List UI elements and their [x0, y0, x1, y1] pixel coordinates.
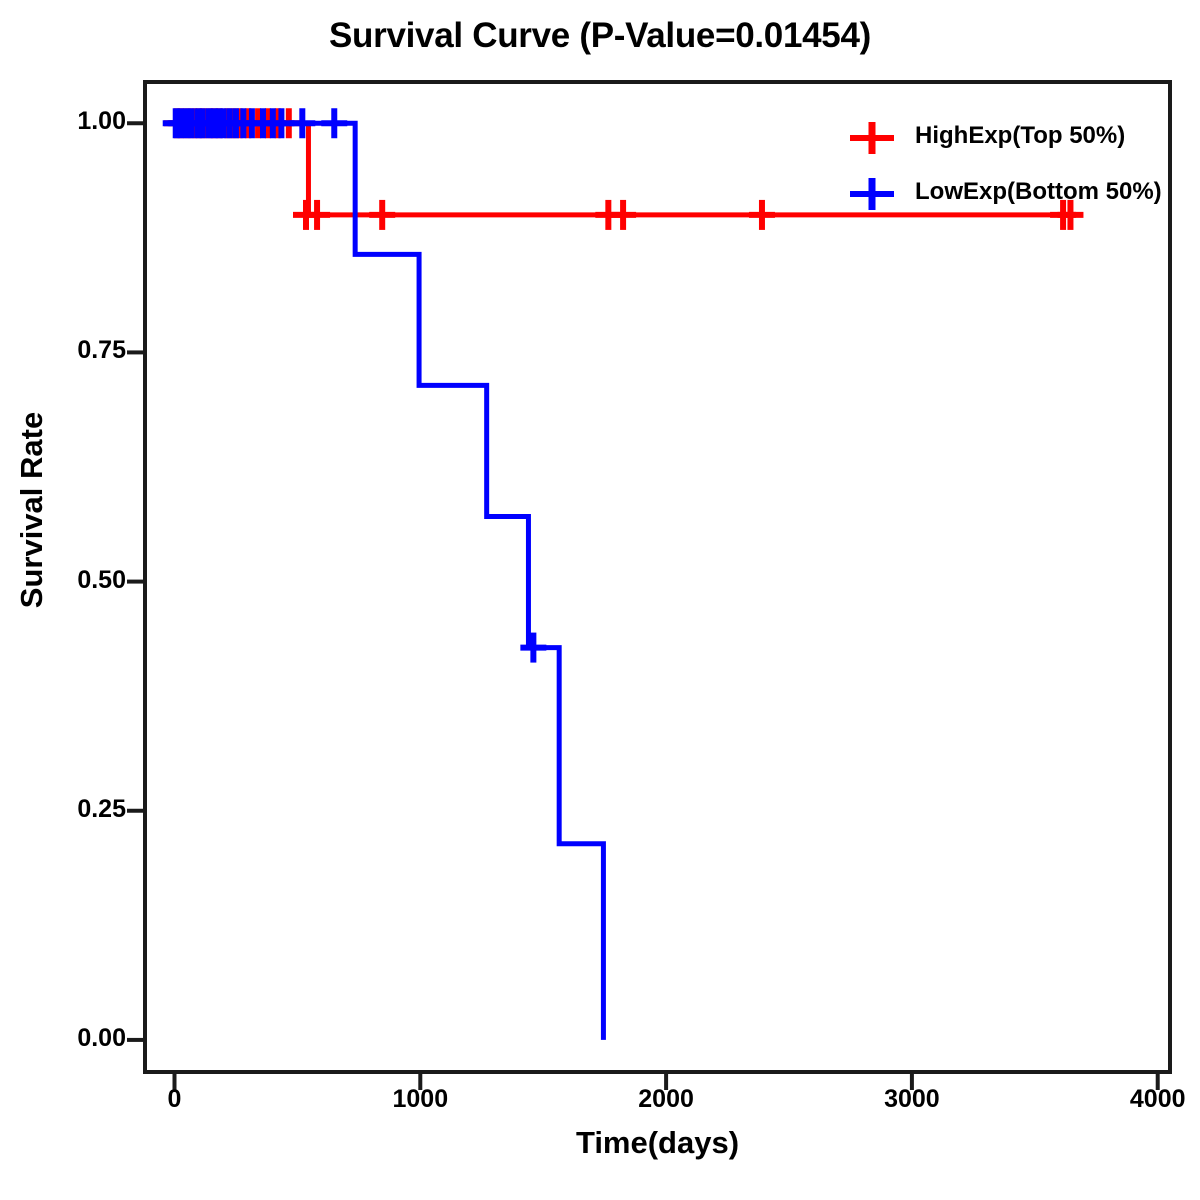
- censor-mark: [321, 108, 347, 138]
- y-tick-label: 0.50: [36, 566, 126, 595]
- x-tick-label: 4000: [1098, 1085, 1200, 1114]
- x-tick-label: 0: [114, 1085, 234, 1114]
- legend-marker-lowexp: [850, 178, 894, 210]
- censor-mark: [520, 633, 546, 663]
- x-tick-label: 1000: [360, 1085, 480, 1114]
- survival-curve-figure: Survival Curve (P-Value=0.01454) Surviva…: [0, 0, 1200, 1200]
- series-layer: [163, 108, 1084, 1040]
- y-tick-label: 1.00: [36, 107, 126, 136]
- censor-mark: [369, 200, 395, 230]
- y-axis-ticks: [127, 123, 143, 1040]
- y-tick-label: 0.75: [36, 336, 126, 365]
- legend-label-lowexp[interactable]: LowExp(Bottom 50%): [915, 178, 1162, 206]
- x-tick-label: 3000: [852, 1085, 972, 1114]
- legend-marker-highexp: [850, 122, 894, 154]
- censor-mark: [289, 108, 315, 138]
- axes-frame: [145, 82, 1170, 1072]
- survival-step-line: [174, 123, 603, 1040]
- censor-mark: [610, 200, 636, 230]
- y-tick-label: 0.25: [36, 795, 126, 824]
- censor-mark: [749, 200, 775, 230]
- y-tick-label: 0.00: [36, 1024, 126, 1053]
- legend-label-highexp[interactable]: HighExp(Top 50%): [915, 122, 1125, 150]
- x-tick-label: 2000: [606, 1085, 726, 1114]
- legend-markers: [850, 122, 894, 210]
